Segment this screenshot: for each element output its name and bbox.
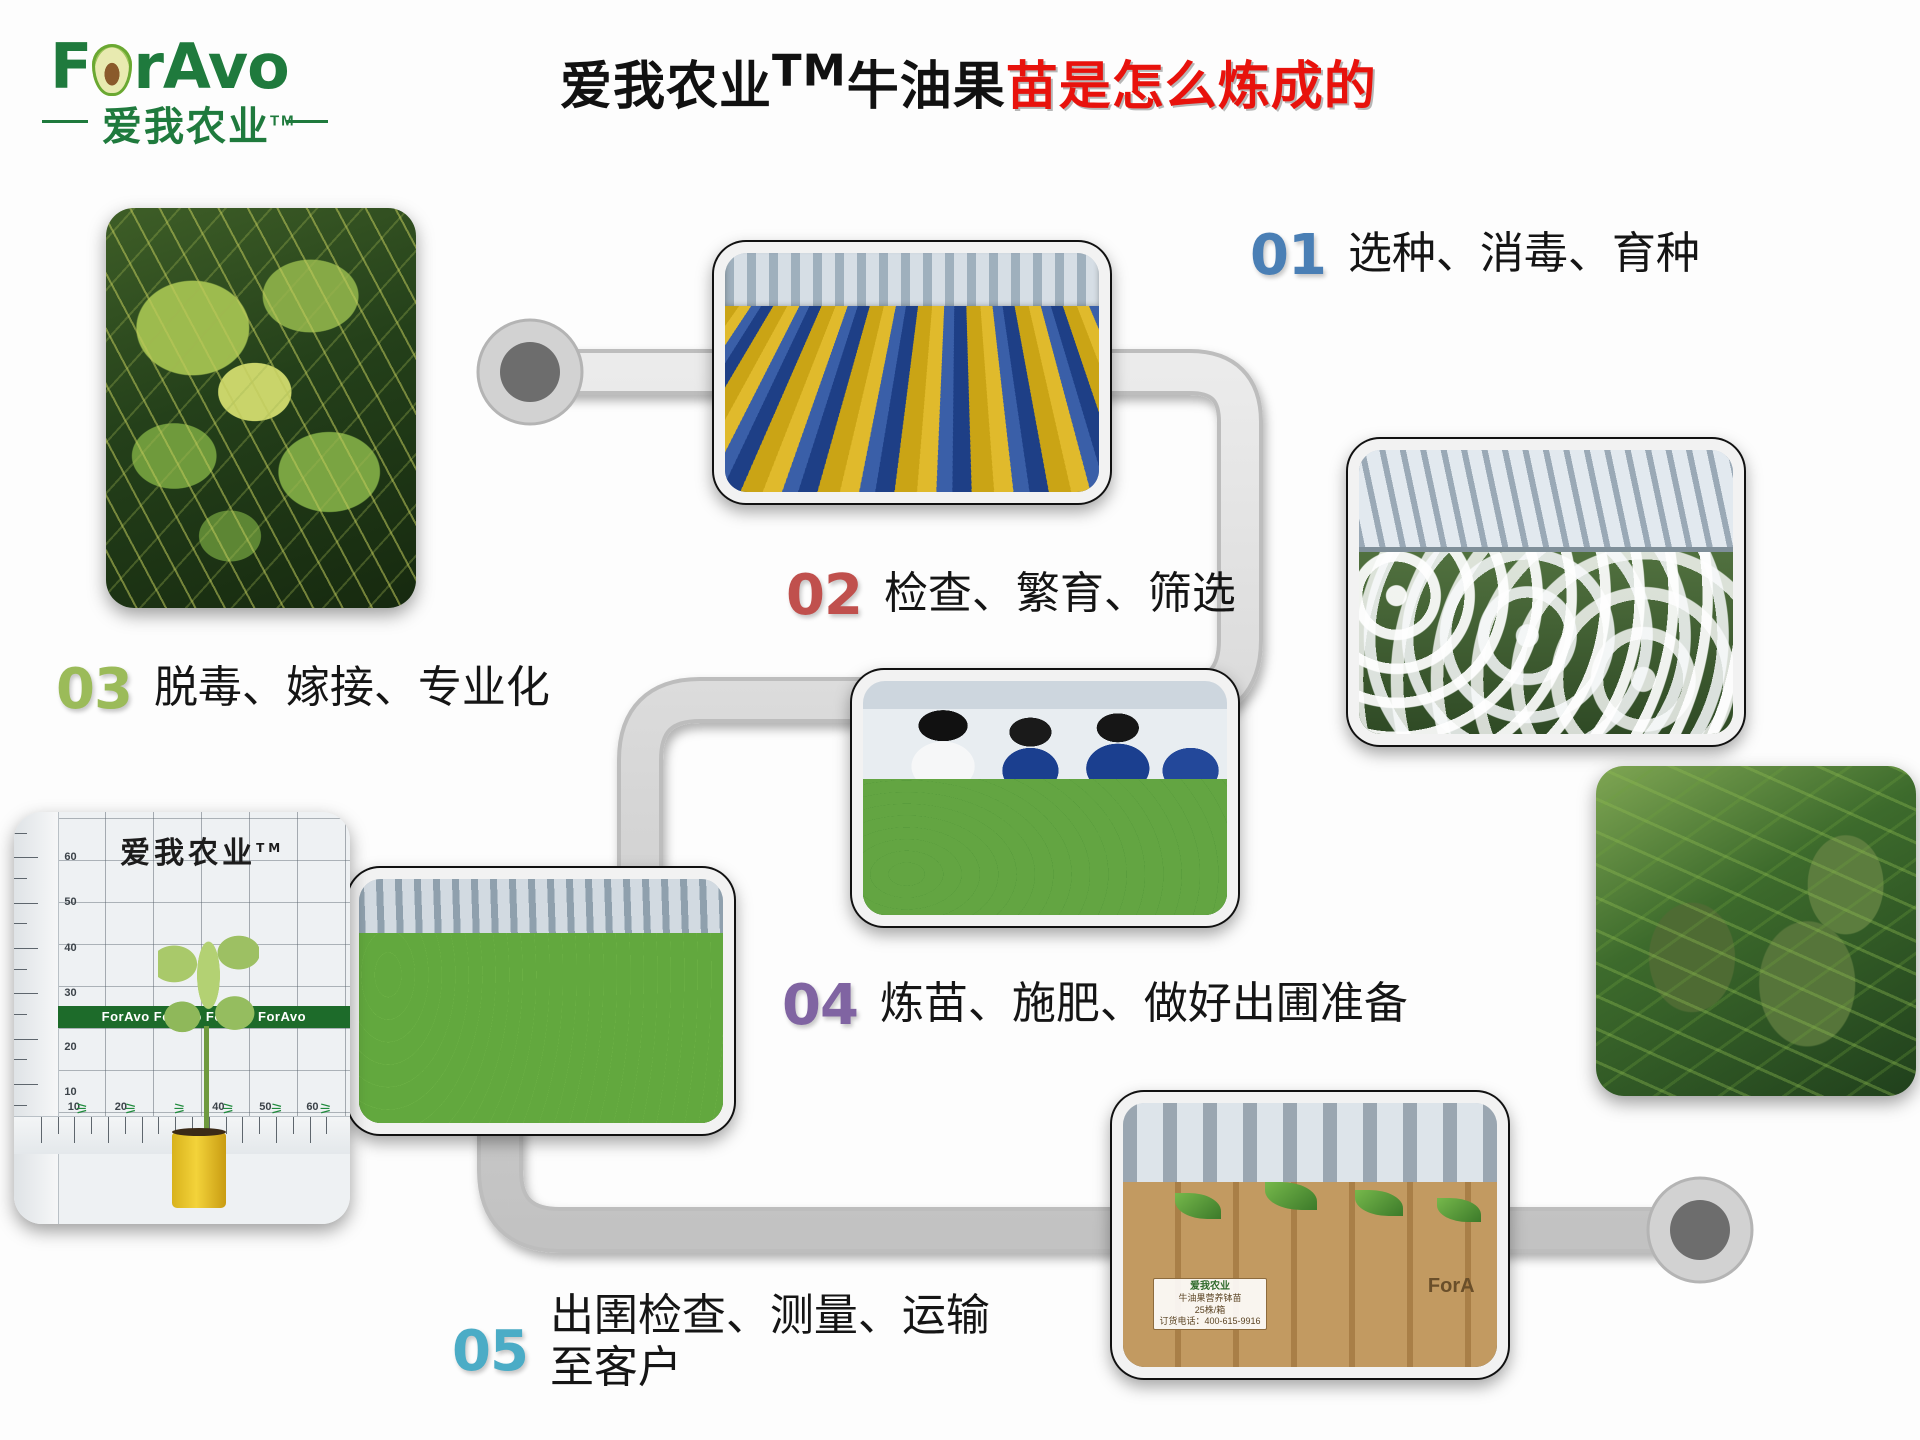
v-tick-30: 30 [64, 987, 76, 999]
photo-avocado-flowering-branch [106, 208, 416, 608]
photo-watermark: 海南爱我农业科技有限公司 [863, 893, 1227, 909]
brand-logo: FrAvo 爱我农业TM [40, 28, 330, 148]
title-tm: TM [772, 47, 847, 97]
logo-chinese-name: 爱我农业TM [102, 94, 296, 152]
step-04: 04 炼苗、施肥、做好出圃准备 [782, 978, 1408, 1034]
box-label-brand: 爱我农业 [1190, 1281, 1230, 1292]
step-01: 01 选种、消毒、育种 [1250, 228, 1700, 284]
step-02: 02 检查、繁育、筛选 [786, 568, 1236, 624]
step-04-number: 04 [782, 978, 858, 1034]
avocado-icon [92, 44, 132, 96]
v-tick-20: 20 [64, 1041, 76, 1053]
page-title: 爱我农业TM牛油果苗是怎么炼成的 [560, 44, 1377, 119]
step-02-number: 02 [786, 568, 862, 624]
clip-icon: ⚞ [270, 1100, 283, 1118]
logo-rule-left [42, 120, 88, 123]
step-01-text: 选种、消毒、育种 [1348, 228, 1700, 280]
vertical-ruler [14, 812, 59, 1224]
photo-packed-shipping-boxes: 爱我农业 牛油果营养钵苗 25株/箱 订货电话：400-615-9916 For… [1110, 1090, 1510, 1380]
clip-icon: ⚞ [221, 1100, 234, 1118]
clip-icon: ⚞ [75, 1100, 88, 1118]
logo-wordmark-post: rAvo [133, 30, 288, 103]
step-04-text: 炼苗、施肥、做好出圃准备 [880, 978, 1408, 1030]
flow-end-dot [1648, 1178, 1752, 1282]
step-05-text: 出圉检查、测量、运输至客户 [550, 1290, 990, 1394]
title-red: 苗是怎么炼成的 [1006, 57, 1377, 117]
step-03: 03 脱毒、嫁接、专业化 [56, 662, 550, 718]
title-black-1: 爱我农业 [560, 57, 772, 117]
step-01-number: 01 [1250, 228, 1326, 284]
step-02-text: 检查、繁育、筛选 [884, 568, 1236, 620]
photo-seed-germination-trays [712, 240, 1112, 505]
step-05-line1: 出圉检查、测量、运输 [550, 1290, 990, 1341]
step-03-number: 03 [56, 662, 132, 718]
clip-icon: ⚞ [124, 1100, 137, 1118]
title-black-2: 牛油果 [847, 57, 1006, 117]
yellow-pot [172, 1133, 226, 1207]
step-05: 05 出圉检查、测量、运输至客户 [452, 1290, 990, 1394]
photo-seedling-measurement: 60 50 40 30 20 10 爱我农业TM ForAvo ForAvo F… [14, 812, 350, 1224]
v-tick-40: 40 [64, 942, 76, 954]
step-05-number: 05 [452, 1324, 528, 1380]
logo-wordmark: FrAvo [50, 30, 289, 103]
box-label-line3: 订货电话：400-615-9916 [1159, 1316, 1260, 1326]
seedling-plant [158, 911, 259, 1101]
flow-start-dot [478, 320, 582, 424]
measurement-heading: 爱我农业TM [68, 828, 337, 872]
measurement-tm: TM [256, 841, 284, 855]
photo-potted-seedling-rows [346, 866, 736, 1136]
step-03-text: 脱毒、嫁接、专业化 [154, 662, 550, 714]
logo-wordmark-pre: F [50, 30, 91, 103]
box-side-text: ForA [1428, 1275, 1475, 1298]
photo-avocado-fruit-on-tree [1596, 766, 1916, 1096]
photo-greenhouse-bagged-plants [1346, 437, 1746, 747]
poster-canvas: FrAvo 爱我农业TM 爱我农业TM牛油果苗是怎么炼成的 海南爱我农业科技有限… [0, 0, 1920, 1440]
shipping-box-label: 爱我农业 牛油果营养钵苗 25株/箱 订货电话：400-615-9916 [1153, 1278, 1267, 1330]
v-tick-10: 10 [64, 1086, 76, 1098]
step-05-line2: 至客户 [550, 1342, 990, 1394]
box-label-line2: 25株/箱 [1195, 1305, 1226, 1315]
clip-icon: ⚞ [173, 1100, 186, 1118]
clip-icon: ⚞ [319, 1100, 332, 1118]
logo-tm: TM [270, 113, 296, 130]
v-tick-50: 50 [64, 896, 76, 908]
photo-staff-inspecting-seedlings: 海南爱我农业科技有限公司 [850, 668, 1240, 928]
box-label-line1: 牛油果营养钵苗 [1178, 1293, 1241, 1303]
